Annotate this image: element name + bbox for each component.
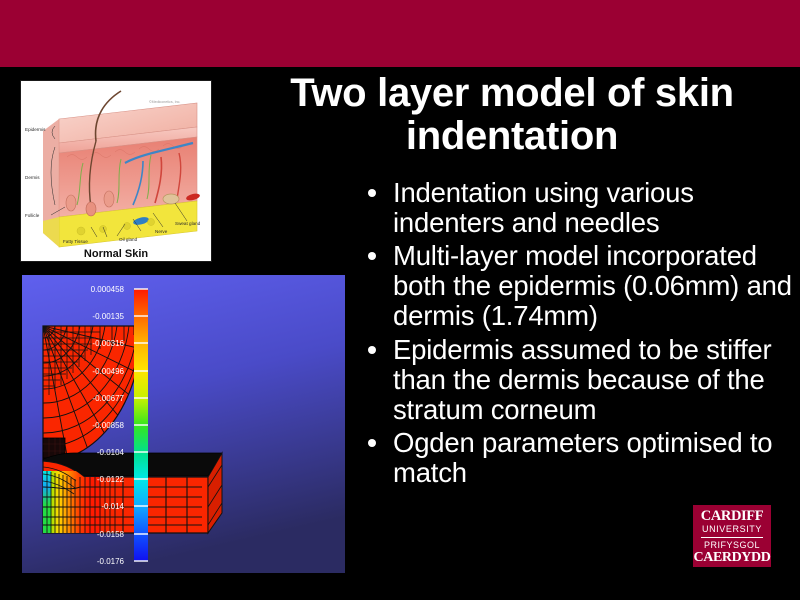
logo-divider — [701, 537, 763, 538]
fea-legend-label: -0.0176 — [97, 557, 125, 566]
logo-line-cardiff: CARDIFF — [693, 509, 771, 524]
header-band — [0, 0, 800, 67]
skin-label-fatty-tissue: Fatty Tissue — [63, 239, 88, 244]
bullet-dot-icon — [362, 241, 393, 260]
skin-figure-credit: ©Mediconetics, Inc. — [149, 100, 180, 104]
skin-label-dermis: Dermis — [25, 175, 40, 180]
skin-label-oil-gland: Oil gland — [119, 237, 138, 242]
logo-line-prifysgol: PRIFYSGOL — [693, 540, 771, 551]
logo-line-caerdydd: CAERDYDD — [693, 551, 771, 566]
bullet-text: Ogden parameters optimised to match — [393, 428, 792, 488]
fea-legend-label: -0.00858 — [92, 421, 124, 430]
bullet-text: Multi-layer model incorporated both the … — [393, 241, 792, 331]
fea-legend-label: -0.00496 — [92, 367, 124, 376]
bullet-dot-icon — [362, 335, 393, 354]
fea-legend-label: -0.0122 — [97, 475, 125, 484]
slide: Two layer model of skin indentation — [0, 0, 800, 600]
skin-figure-caption: Normal Skin — [84, 248, 148, 260]
fea-legend-label: -0.0158 — [97, 530, 125, 539]
bullet-dot-icon — [362, 428, 393, 447]
fea-legend-label: -0.00316 — [92, 339, 124, 348]
list-item: Epidermis assumed to be stiffer than the… — [362, 335, 792, 425]
bullet-list: Indentation using various indenters and … — [362, 178, 792, 491]
skin-anatomy-figure: Epidermis Dermis Follicle Fatty Tissue O… — [20, 80, 212, 262]
fea-legend — [134, 289, 148, 561]
bullet-dot-icon — [362, 178, 393, 197]
skin-anatomy-illustration: Epidermis Dermis Follicle Fatty Tissue O… — [21, 81, 211, 261]
skin-label-sweat-gland: Sweat gland — [175, 221, 201, 226]
bullet-text: Epidermis assumed to be stiffer than the… — [393, 335, 792, 425]
skin-label-follicle: Follicle — [25, 213, 40, 218]
fea-legend-label: -0.00677 — [92, 394, 124, 403]
fea-legend-label: -0.014 — [101, 502, 124, 511]
cardiff-university-logo: CARDIFF UNIVERSITY PRIFYSGOL CAERDYDD — [693, 505, 771, 567]
fea-substrate-mesh — [43, 453, 222, 533]
fea-contour-plot: 0.000458 -0.00135 -0.00316 -0.00496 -0.0… — [22, 275, 345, 573]
skin-label-epidermis: Epidermis — [25, 127, 46, 132]
list-item: Indentation using various indenters and … — [362, 178, 792, 238]
fea-legend-label: -0.00135 — [92, 312, 124, 321]
page-title: Two layer model of skin indentation — [232, 72, 792, 158]
logo-line-university: UNIVERSITY — [693, 524, 771, 535]
list-item: Ogden parameters optimised to match — [362, 428, 792, 488]
fea-legend-label: 0.000458 — [91, 285, 125, 294]
bullet-text: Indentation using various indenters and … — [393, 178, 792, 238]
fea-legend-label: -0.0104 — [97, 448, 125, 457]
skin-label-nerve: Nerve — [155, 229, 168, 234]
list-item: Multi-layer model incorporated both the … — [362, 241, 792, 331]
fea-contour-figure: 0.000458 -0.00135 -0.00316 -0.00496 -0.0… — [22, 275, 345, 573]
